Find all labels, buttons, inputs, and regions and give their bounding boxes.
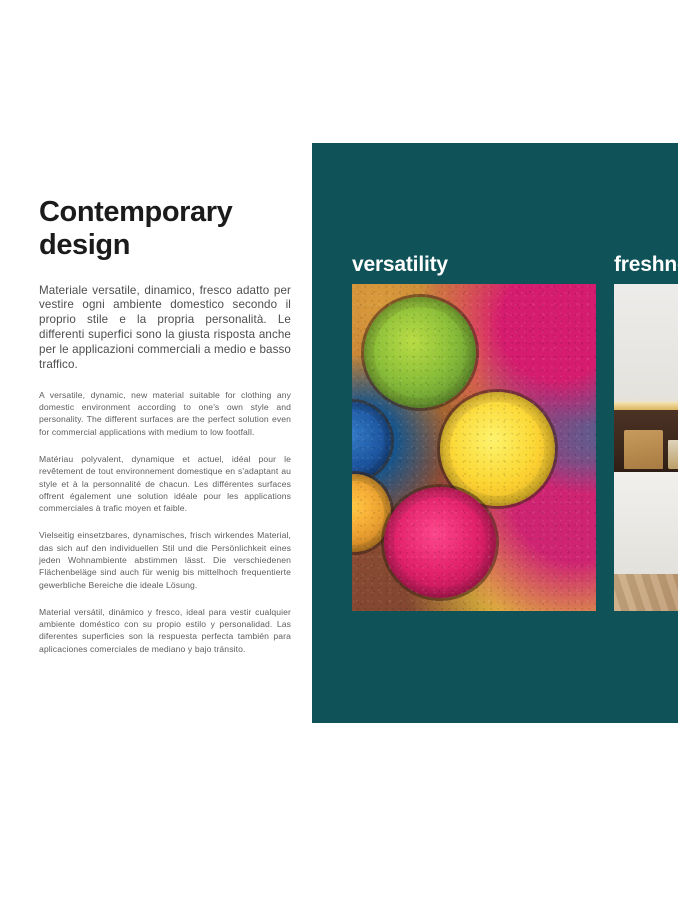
pigment-powders-image xyxy=(352,284,596,611)
feature-heading-freshness: freshness xyxy=(614,253,678,277)
kitchen-wood-niche-shelf xyxy=(614,410,678,472)
document-page: Contemporary design Materiale versatile,… xyxy=(0,0,678,904)
pigment-powders-illustration xyxy=(352,284,596,611)
kitchen-wood-floor xyxy=(614,574,678,611)
pigment-tin-amber xyxy=(352,474,391,552)
kitchen-illustration xyxy=(614,284,678,611)
pigment-tin-blue xyxy=(352,402,391,480)
feature-panel: versatility freshness xyxy=(312,143,678,723)
storage-jar xyxy=(668,440,678,469)
translation-paragraph-es: Material versátil, dinámico y fresco, id… xyxy=(39,606,291,655)
translation-paragraph-fr: Matériau polyvalent, dynamique et actuel… xyxy=(39,453,291,514)
lead-paragraph-it: Materiale versatile, dinamico, fresco ad… xyxy=(39,284,291,373)
under-cabinet-light xyxy=(614,402,678,411)
pigment-tin-magenta xyxy=(384,487,496,598)
kitchen-interior-image xyxy=(614,284,678,611)
translation-paragraph-de: Vielseitig einsetzbares, dynamisches, fr… xyxy=(39,529,291,590)
pigment-tin-green xyxy=(364,297,476,408)
article-text-column: Contemporary design Materiale versatile,… xyxy=(39,196,291,655)
feature-heading-versatility: versatility xyxy=(352,253,448,277)
cutting-board xyxy=(624,430,663,469)
kitchen-upper-cabinets xyxy=(614,284,678,402)
page-title: Contemporary design xyxy=(39,196,274,262)
kitchen-base-cabinets xyxy=(614,472,678,573)
pigment-tin-yellow xyxy=(440,392,555,506)
translation-paragraph-en: A versatile, dynamic, new material suita… xyxy=(39,389,291,438)
